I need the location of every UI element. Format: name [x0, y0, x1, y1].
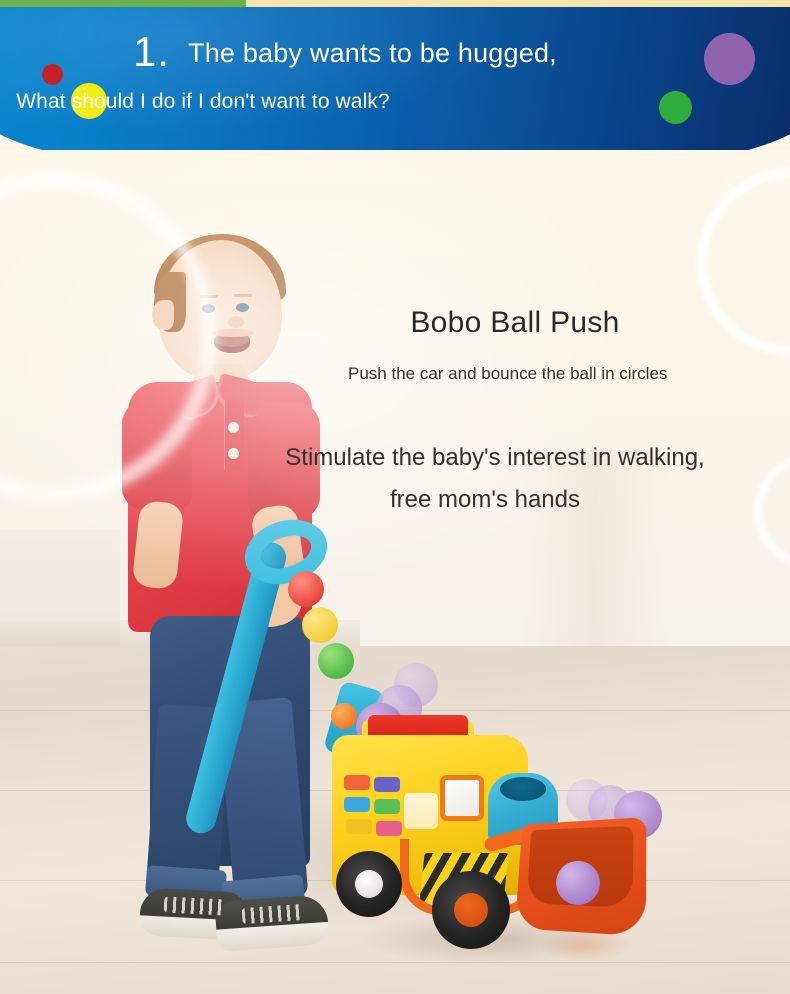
banner-subheadline: What should I do if I don't want to walk…	[0, 90, 790, 114]
toy-button	[376, 821, 402, 836]
top-strip-green	[0, 0, 246, 7]
toy-button	[344, 775, 370, 790]
toy-orange-knob	[331, 703, 357, 729]
toy-button	[374, 777, 400, 792]
toy-button	[344, 797, 370, 812]
top-strip-cream	[246, 0, 790, 7]
banner-step-number: 1.	[133, 31, 170, 73]
toy-sticker	[404, 793, 438, 829]
toy-button	[346, 819, 372, 834]
toy-button	[374, 799, 400, 814]
product-banner-page: 1. The baby wants to be hugged, What sho…	[0, 0, 790, 994]
toy-button-panel	[344, 775, 408, 835]
toy-handle-ball-green	[318, 643, 354, 679]
toy-cab-window	[440, 775, 484, 821]
scoop-floor-reflection	[522, 927, 650, 973]
child-shoelaces-left	[164, 896, 227, 915]
toy-front-hubcap	[355, 870, 383, 898]
toy-launcher-opening	[500, 777, 546, 801]
scoop-ball-purple	[556, 861, 600, 905]
red-dot-icon	[42, 64, 63, 85]
banner-headline: The baby wants to be hugged,	[188, 38, 557, 69]
purple-dot-icon	[704, 33, 755, 85]
toy-rear-hubcap	[454, 893, 488, 927]
